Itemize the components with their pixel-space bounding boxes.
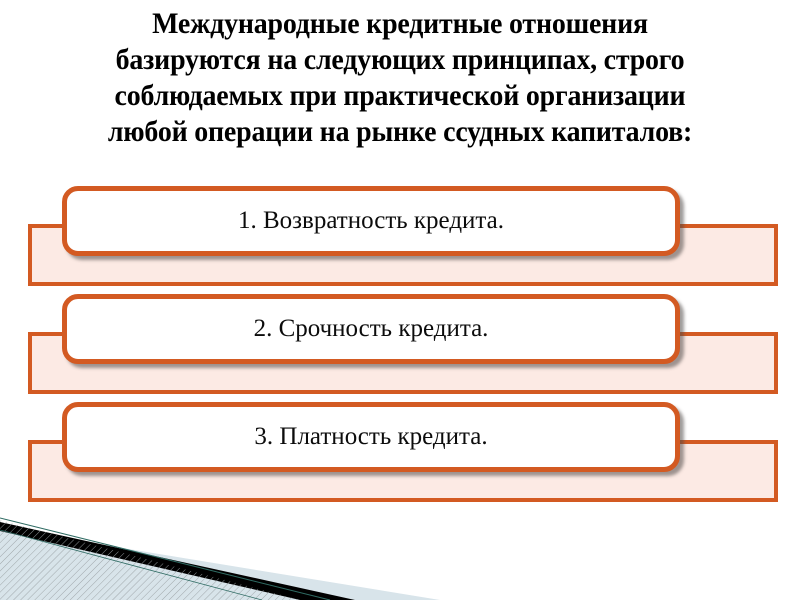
diagram-row: 3. Платность кредита. — [0, 402, 800, 510]
decoration-dark-wedge — [0, 522, 355, 600]
slide-canvas: Международные кредитные отношения базиру… — [0, 0, 800, 600]
principle-label: 2. Срочность кредита. — [254, 314, 489, 344]
principle-label: 1. Возвратность кредита. — [238, 206, 504, 236]
diagram-row: 1. Возвратность кредита. — [0, 186, 800, 294]
principle-label: 3. Платность кредита. — [254, 422, 487, 452]
decoration-outline-top — [0, 518, 330, 600]
principle-callout-1[interactable]: 1. Возвратность кредита. — [62, 186, 680, 256]
diagram-row: 2. Срочность кредита. — [0, 294, 800, 402]
principle-callout-2[interactable]: 2. Срочность кредита. — [62, 294, 680, 364]
corner-triangle-decoration — [0, 500, 470, 600]
decoration-hatched-triangle — [0, 520, 300, 600]
decoration-light-wedge — [0, 528, 440, 600]
page-title: Международные кредитные отношения базиру… — [35, 6, 764, 150]
principle-callout-3[interactable]: 3. Платность кредита. — [62, 402, 680, 472]
decoration-outline-bottom — [0, 530, 262, 600]
